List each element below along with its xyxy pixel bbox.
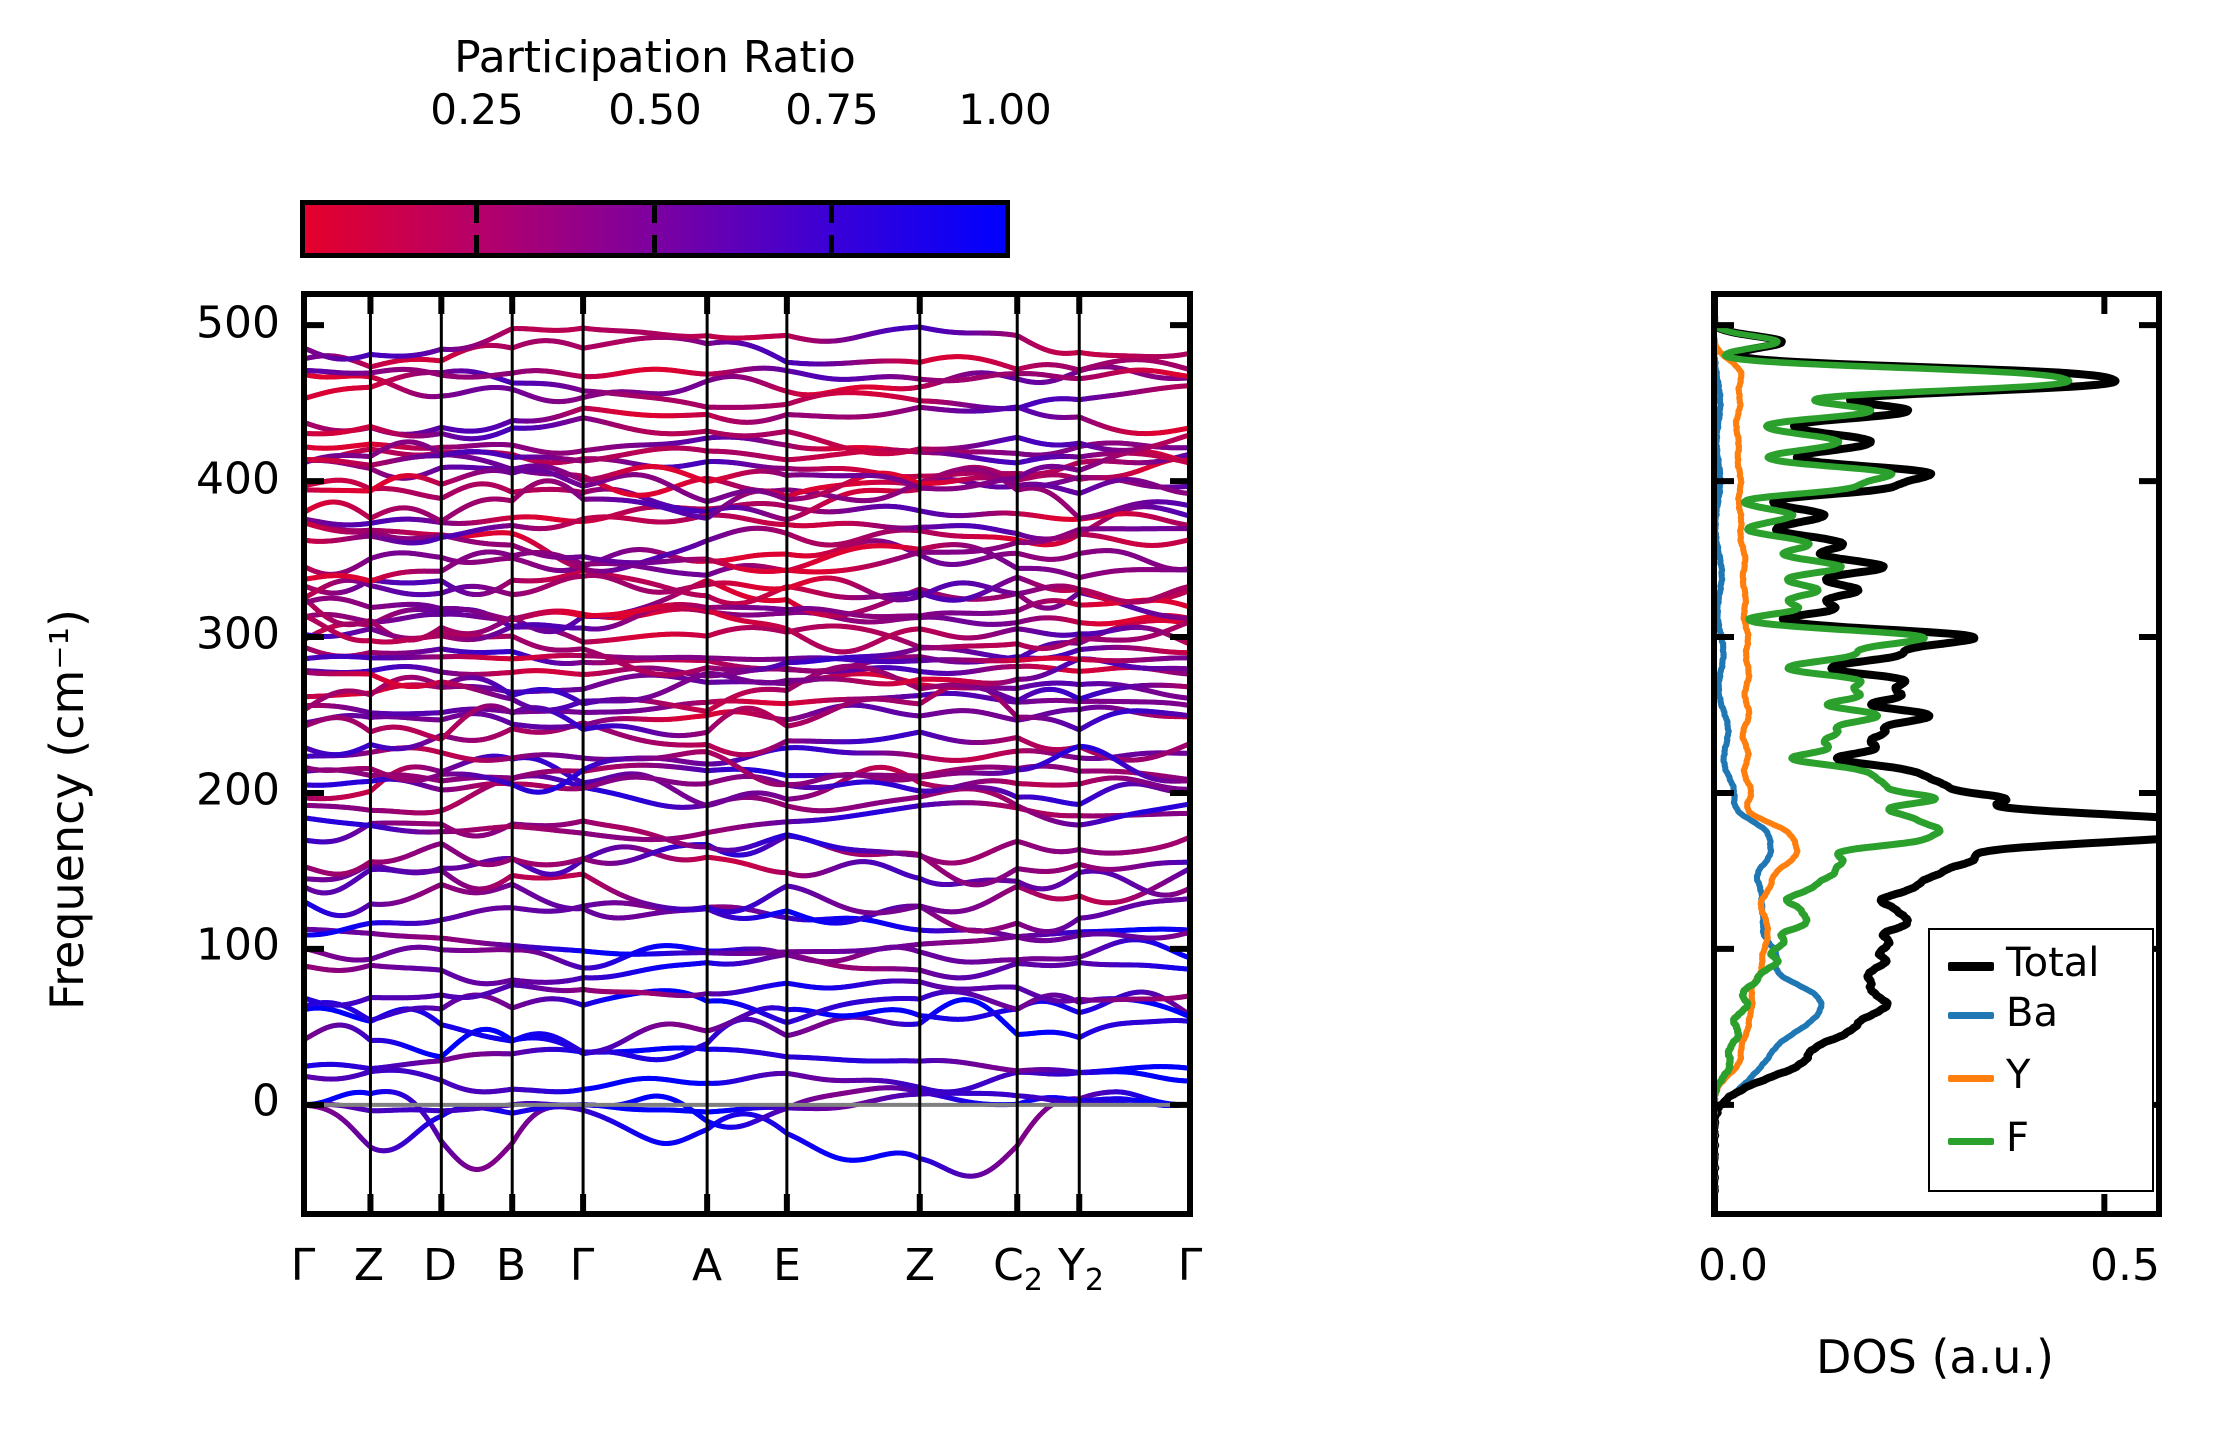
legend-label-ba: Ba: [2006, 990, 2058, 1036]
legend-label-f: F: [2006, 1115, 2029, 1161]
legend-swatch-ba: [1948, 1012, 1994, 1019]
axes-group: [304, 294, 2159, 1214]
figure-canvas: Participation Ratio 0.25 0.50 0.75 1.00 …: [0, 0, 2224, 1455]
legend-swatch-total: [1948, 962, 1994, 971]
plot-svg: [0, 0, 2224, 1455]
legend-label-y: Y: [2006, 1052, 2030, 1098]
legend-swatch-f: [1948, 1138, 1994, 1145]
band-curves-group: [304, 327, 1190, 1176]
legend-label-total: Total: [2006, 940, 2099, 986]
legend-swatch-y: [1948, 1075, 1994, 1082]
